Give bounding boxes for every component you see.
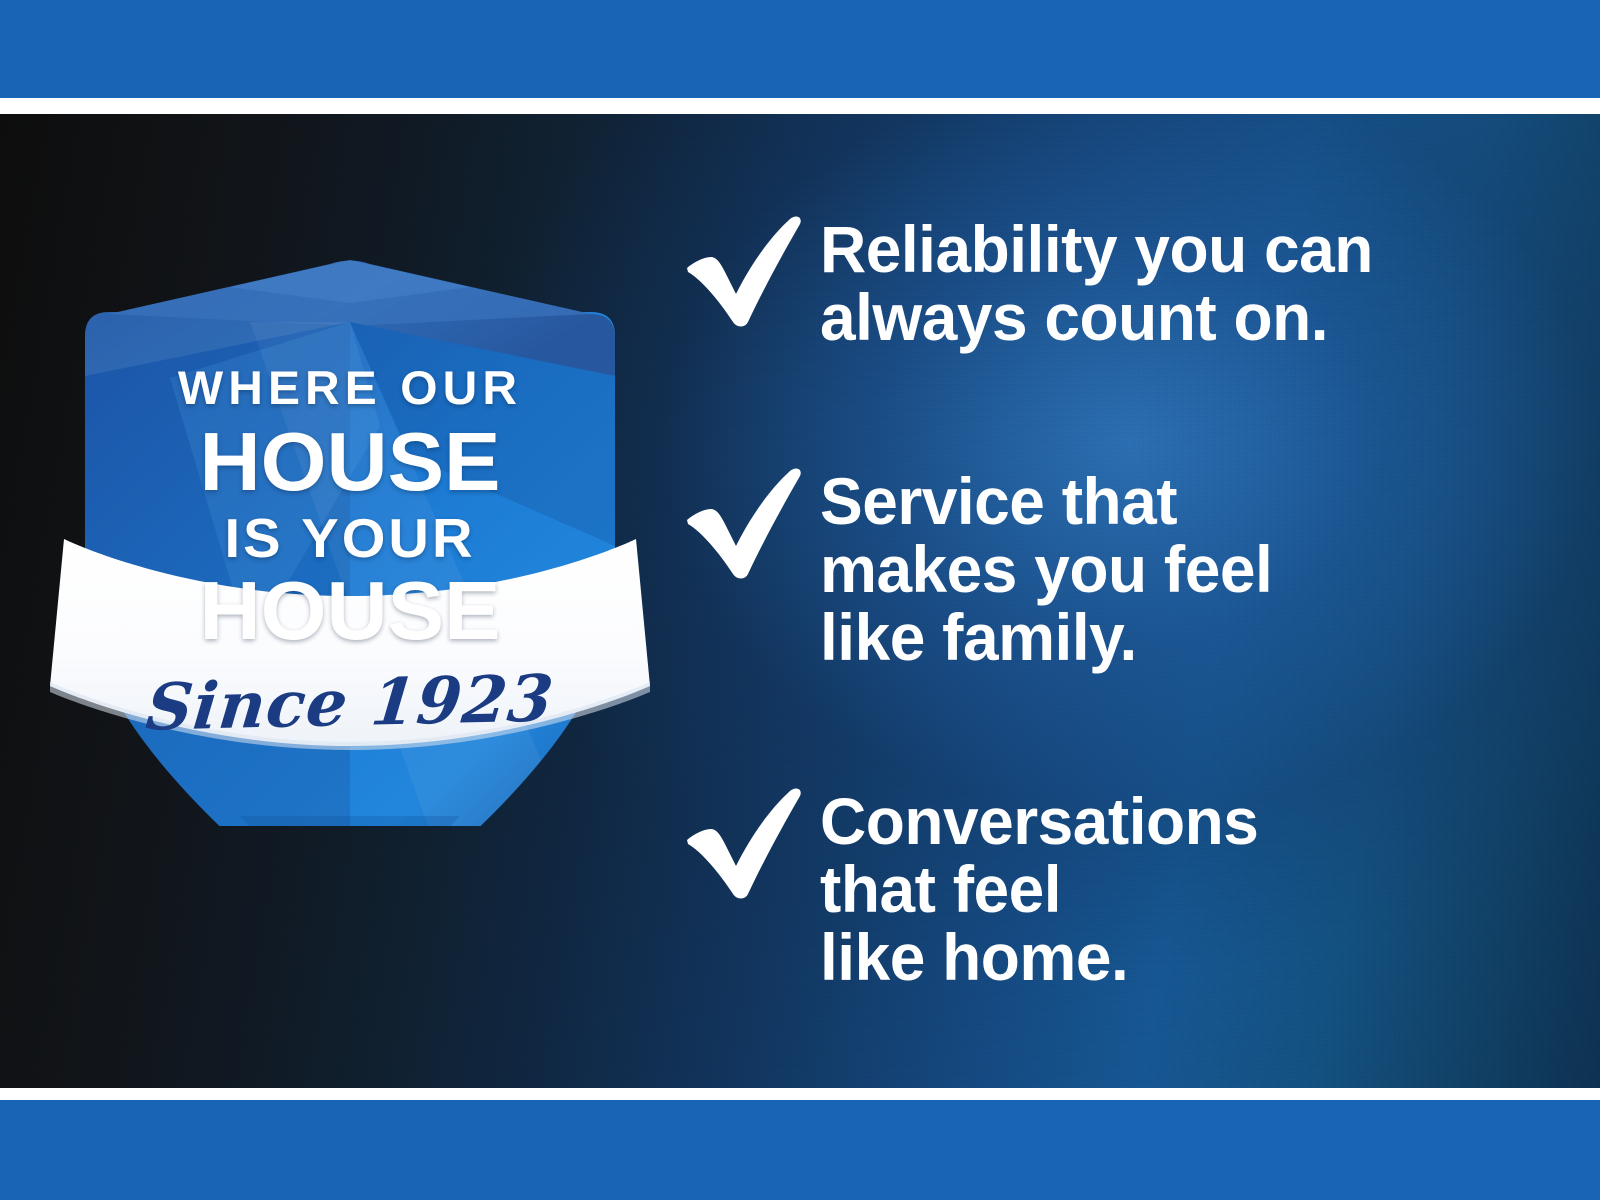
benefit-text-reliability: Reliability you can always count on.	[820, 210, 1373, 352]
checkmark-icon	[672, 462, 806, 580]
bottom-white-divider	[0, 1088, 1600, 1100]
checkmark-icon	[672, 210, 806, 328]
benefits-list: Reliability you can always count on. Ser…	[672, 114, 1532, 1088]
top-white-divider	[0, 98, 1600, 114]
shield-badge	[50, 126, 650, 826]
benefit-text-service: Service that makes you feel like family.	[820, 462, 1272, 672]
benefit-item-reliability: Reliability you can always count on.	[672, 210, 1390, 352]
bottom-brand-bar	[0, 1100, 1600, 1200]
benefit-item-conversations: Conversations that feel like home.	[672, 782, 1272, 992]
benefit-text-conversations: Conversations that feel like home.	[820, 782, 1258, 992]
top-brand-bar	[0, 0, 1600, 98]
benefit-item-service: Service that makes you feel like family.	[672, 462, 1286, 672]
promo-graphic: WHERE OUR HOUSE IS YOUR HOUSE Since 1923…	[0, 0, 1600, 1200]
checkmark-icon	[672, 782, 806, 900]
